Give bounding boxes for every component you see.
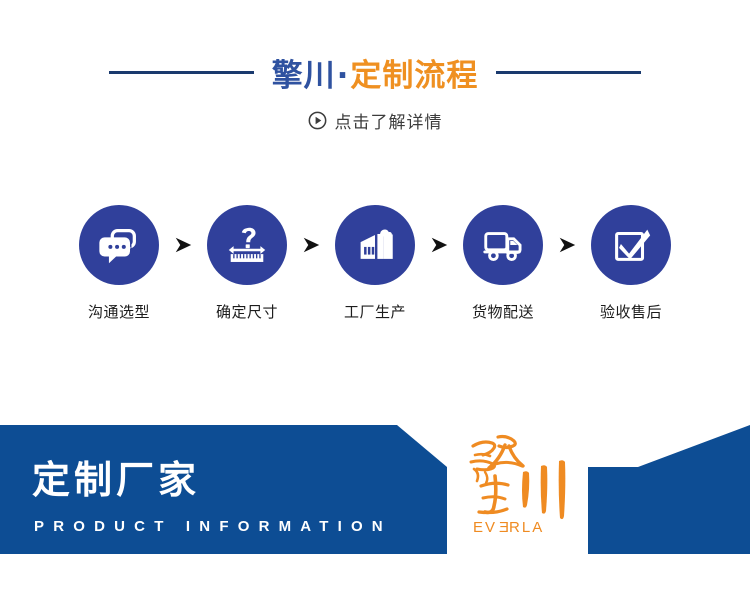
page-title: 擎川·定制流程 — [272, 50, 479, 95]
page-title-separator: · — [336, 58, 351, 94]
banner-heading: 定制厂家 — [32, 449, 200, 504]
delivery-truck-icon — [480, 222, 526, 268]
step-label-3: 工厂生产 — [344, 301, 406, 322]
step-item-2[interactable]: 确定尺寸 — [188, 205, 306, 322]
chat-bubbles-icon — [96, 222, 142, 268]
banner-right-panel — [588, 425, 750, 554]
header-rule-left — [109, 71, 254, 74]
subtitle-text: 点击了解详情 — [335, 108, 443, 133]
step-label-5: 验收售后 — [600, 301, 662, 322]
play-circle-icon[interactable] — [308, 111, 327, 130]
subtitle-row[interactable]: 点击了解详情 — [0, 107, 750, 133]
header-rule-right — [496, 71, 641, 74]
step-circle-1 — [79, 205, 159, 285]
step-label-4: 货物配送 — [472, 301, 534, 322]
factory-icon — [352, 222, 398, 268]
reversed-e-glyph: E — [497, 519, 509, 536]
page-root: 擎川·定制流程 点击了解详情 — [0, 0, 750, 595]
step-circle-5 — [591, 205, 671, 285]
brand-wordmark: EVERLA — [473, 519, 544, 536]
step-label-2: 确定尺寸 — [216, 301, 278, 322]
step-label-1: 沟通选型 — [88, 301, 150, 322]
page-title-brand: 擎川 — [272, 58, 336, 94]
step-circle-3 — [335, 205, 415, 285]
step-circle-4 — [463, 205, 543, 285]
banner-subheading: PRODUCT INFORMATION — [34, 518, 392, 535]
step-circle-2 — [207, 205, 287, 285]
checkbox-check-icon — [608, 222, 654, 268]
step-item-3[interactable]: 工厂生产 — [316, 205, 434, 322]
step-item-1[interactable]: 沟通选型 — [60, 205, 178, 322]
ruler-question-icon — [224, 222, 270, 268]
process-steps: 沟通选型 — [0, 205, 750, 335]
wordmark-letters: EVERLA — [473, 519, 544, 536]
page-header: 擎川·定制流程 — [0, 52, 750, 92]
step-item-4[interactable]: 货物配送 — [444, 205, 562, 322]
page-title-topic: 定制流程 — [350, 58, 478, 94]
step-item-5[interactable]: 验收售后 — [572, 205, 690, 322]
